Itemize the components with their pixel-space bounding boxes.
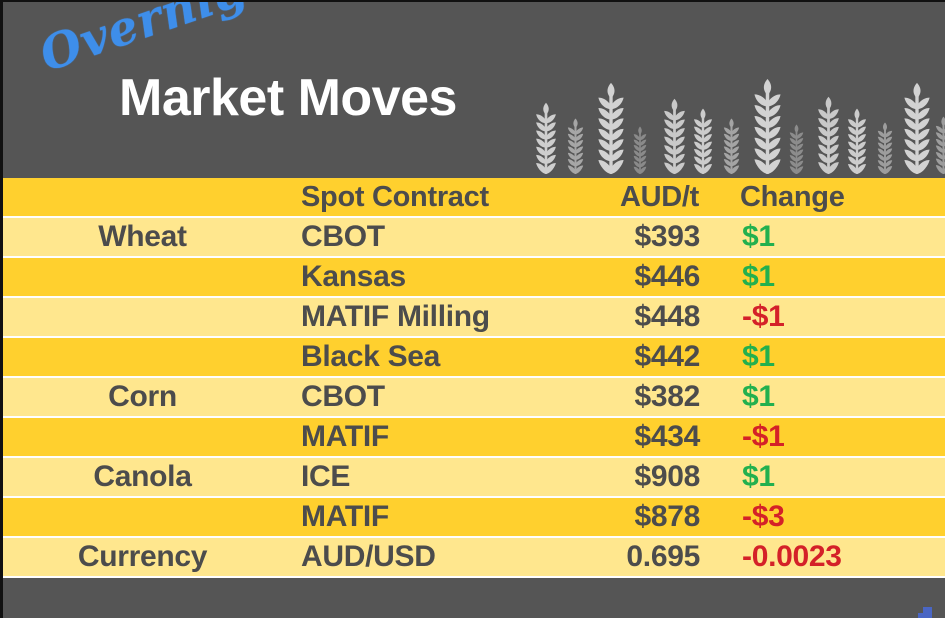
wheat-stalk-icon — [817, 96, 840, 174]
cell-change: -$1 — [708, 302, 945, 332]
cell-spot-contract-text: Black Sea — [301, 342, 440, 372]
cell-spot-contract: CBOT — [288, 222, 573, 252]
cell-change: $1 — [708, 462, 945, 492]
cell-spot-contract-text: MATIF — [301, 422, 389, 452]
table-row: MATIF Milling$448-$1 — [3, 298, 945, 338]
table-row: CurrencyAUD/USD0.695-0.0023 — [3, 538, 945, 578]
wheat-stalk-icon — [663, 98, 686, 174]
cell-commodity — [3, 308, 288, 326]
table-row: Kansas$446$1 — [3, 258, 945, 298]
cell-commodity — [3, 508, 288, 526]
cell-change-text: $1 — [742, 342, 775, 372]
cell-spot-contract-text: ICE — [301, 462, 350, 492]
cell-spot-contract: AUD/USD — [288, 542, 573, 572]
title-block: Overnight Market Moves — [41, 24, 501, 134]
cell-spot-contract: CBOT — [288, 382, 573, 412]
wheat-stalk-icon — [597, 82, 625, 174]
header-banner: Overnight Market Moves — [3, 2, 945, 178]
table-row: MATIF$878-$3 — [3, 498, 945, 538]
market-table: Spot Contract AUD/t Change WheatCBOT$393… — [3, 178, 945, 578]
cell-change-text: $1 — [742, 262, 775, 292]
footer-bar — [3, 578, 945, 618]
cell-change-text: $1 — [742, 462, 775, 492]
wheat-stalk-icon — [903, 82, 931, 174]
cell-spot-contract-text: AUD/USD — [301, 542, 436, 572]
cell-change-text: -$1 — [742, 422, 784, 452]
wheat-decoration-strip — [525, 64, 943, 174]
cell-price: $442 — [573, 342, 708, 372]
cell-price-text: $878 — [634, 502, 700, 532]
column-header-change: Change — [708, 183, 945, 212]
cell-price: 0.695 — [573, 542, 708, 572]
wheat-stalk-icon — [753, 78, 782, 174]
wheat-stalk-icon — [693, 108, 713, 174]
cell-spot-contract: MATIF — [288, 422, 573, 452]
market-moves-graphic: Overnight Market Moves Spot Contract AUD… — [0, 0, 945, 618]
cell-price: $382 — [573, 382, 708, 412]
cell-commodity-text: Currency — [78, 542, 207, 572]
cell-price: $448 — [573, 302, 708, 332]
cell-commodity-text: Wheat — [98, 222, 187, 252]
cell-price: $878 — [573, 502, 708, 532]
cell-price: $446 — [573, 262, 708, 292]
table-row: CanolaICE$908$1 — [3, 458, 945, 498]
cell-price-text: $448 — [634, 302, 700, 332]
cell-price-text: $446 — [634, 262, 700, 292]
table-row: CornCBOT$382$1 — [3, 378, 945, 418]
cell-commodity — [3, 348, 288, 366]
cell-commodity: Canola — [3, 462, 288, 492]
cell-change-text: $1 — [742, 222, 775, 252]
cell-commodity — [3, 428, 288, 446]
cell-commodity — [3, 268, 288, 286]
cell-commodity-text: Corn — [108, 382, 177, 412]
cell-price-text: $434 — [634, 422, 700, 452]
cell-spot-contract: Kansas — [288, 262, 573, 292]
wheat-stalk-icon — [567, 118, 584, 174]
cell-price-text: $393 — [634, 222, 700, 252]
table-row: WheatCBOT$393$1 — [3, 218, 945, 258]
cell-price-text: $442 — [634, 342, 700, 372]
cell-change: $1 — [708, 342, 945, 372]
cell-price: $434 — [573, 422, 708, 452]
cell-spot-contract: ICE — [288, 462, 573, 492]
page-title: Market Moves — [119, 68, 457, 128]
cell-change: -$1 — [708, 422, 945, 452]
table-row: MATIF$434-$1 — [3, 418, 945, 458]
cell-change: $1 — [708, 262, 945, 292]
cell-price: $908 — [573, 462, 708, 492]
table-body: WheatCBOT$393$1Kansas$446$1MATIF Milling… — [3, 218, 945, 578]
cell-change: -0.0023 — [708, 542, 945, 572]
column-header-commodity — [3, 188, 288, 206]
cell-price-text: 0.695 — [626, 542, 700, 572]
cell-spot-contract-text: CBOT — [301, 382, 385, 412]
cell-price: $393 — [573, 222, 708, 252]
cell-commodity: Currency — [3, 542, 288, 572]
wheat-stalk-icon — [935, 116, 945, 174]
cell-commodity-text: Canola — [93, 462, 191, 492]
cell-price-text: $908 — [634, 462, 700, 492]
cell-spot-contract: Black Sea — [288, 342, 573, 372]
cell-change: $1 — [708, 382, 945, 412]
cell-spot-contract-text: Kansas — [301, 262, 406, 292]
cell-change-text: -$1 — [742, 302, 784, 332]
cell-change-text: -$3 — [742, 502, 784, 532]
cell-change: -$3 — [708, 502, 945, 532]
wheat-stalk-icon — [847, 108, 867, 174]
cell-spot-contract-text: MATIF Milling — [301, 302, 490, 332]
cell-spot-contract-text: MATIF — [301, 502, 389, 532]
wheat-stalk-icon — [723, 118, 740, 174]
cell-price-text: $382 — [634, 382, 700, 412]
cell-change-text: -0.0023 — [742, 542, 842, 572]
column-header-aud-t: AUD/t — [573, 183, 708, 212]
cell-commodity: Corn — [3, 382, 288, 412]
table-row: Black Sea$442$1 — [3, 338, 945, 378]
wheat-stalk-icon — [535, 102, 557, 174]
cell-change: $1 — [708, 222, 945, 252]
cell-spot-contract-text: CBOT — [301, 222, 385, 252]
column-header-spot-contract: Spot Contract — [288, 183, 573, 212]
corner-mark-icon — [923, 607, 932, 618]
cell-spot-contract: MATIF — [288, 502, 573, 532]
cell-change-text: $1 — [742, 382, 775, 412]
cell-spot-contract: MATIF Milling — [288, 302, 573, 332]
cell-commodity: Wheat — [3, 222, 288, 252]
wheat-stalk-icon — [789, 124, 804, 174]
wheat-stalk-icon — [633, 126, 647, 174]
wheat-stalk-icon — [877, 122, 893, 174]
table-header-row: Spot Contract AUD/t Change — [3, 178, 945, 218]
